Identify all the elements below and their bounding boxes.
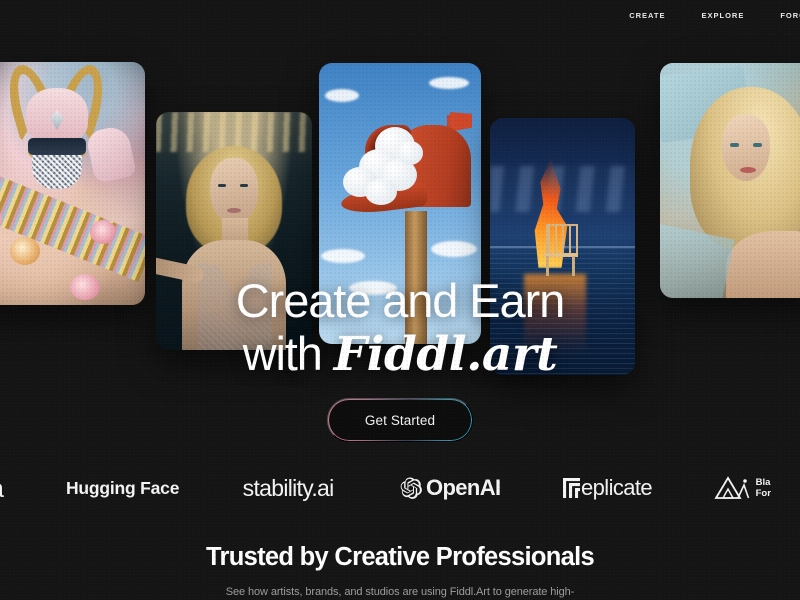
page-root: CREATE EXPLORE FORG — [0, 0, 800, 600]
cloud-band-shape — [490, 166, 635, 212]
nav-item-create[interactable]: CREATE — [611, 11, 683, 20]
logo-hugging-face[interactable]: Hugging Face — [38, 478, 207, 499]
page-title: Create and Earn with Fiddl.art — [0, 274, 800, 381]
chair-leg — [546, 256, 549, 276]
logo-luma-label: ma — [0, 473, 4, 504]
eye-shape — [218, 184, 226, 187]
woman-in-car-artwork — [660, 63, 800, 298]
logo-openai[interactable]: OpenAI — [369, 475, 531, 501]
chair-leg — [572, 256, 575, 276]
logo-black-forest-labs[interactable]: Bla For — [685, 475, 800, 501]
samurai-artwork — [0, 62, 145, 305]
trusted-subtext: See how artists, brands, and studios are… — [0, 586, 800, 598]
nav-items: CREATE EXPLORE FORG — [611, 11, 800, 20]
chair-shape — [544, 224, 582, 276]
lips-shape — [740, 167, 756, 173]
gallery-card-samurai[interactable] — [0, 62, 145, 305]
visor-shape — [28, 138, 86, 155]
replicate-bars-icon — [563, 478, 580, 498]
top-navigation: CREATE EXPLORE FORG — [0, 0, 800, 31]
eye-shape — [753, 143, 762, 147]
nav-item-forge[interactable]: FORG — [762, 11, 800, 20]
black-forest-labs-triangle-icon — [714, 475, 750, 501]
lattice-mask-shape — [32, 155, 82, 189]
trusted-section: Trusted by Creative Professionals See ho… — [0, 543, 800, 598]
logo-stability-ai-label: stability.ai — [243, 475, 334, 502]
chair-back — [546, 224, 578, 256]
eye-shape — [240, 184, 248, 187]
logo-luma[interactable]: ma — [0, 473, 38, 504]
cta-container: Get Started — [0, 398, 800, 442]
eye-shape — [730, 143, 739, 147]
headline-line-2: with Fiddl.art — [0, 327, 800, 381]
logo-replicate-label: eplicate — [581, 475, 652, 501]
get-started-button[interactable]: Get Started — [327, 398, 473, 442]
logo-openai-label: OpenAI — [426, 475, 501, 501]
bfl-line-1: Bla — [756, 477, 771, 488]
headline-with: with — [243, 327, 334, 380]
sky-cloud — [431, 241, 477, 257]
bfl-line-2: For — [756, 488, 771, 499]
gloved-hand-shape — [85, 124, 137, 184]
trusted-heading: Trusted by Creative Professionals — [0, 543, 800, 572]
nav-item-explore[interactable]: EXPLORE — [683, 11, 762, 20]
gallery-card-woman-in-car[interactable] — [660, 63, 800, 298]
sky-cloud — [321, 249, 365, 263]
partner-logo-strip: ma Hugging Face stability.ai OpenAI epli… — [0, 462, 800, 514]
hero-section: Create and Earn with Fiddl.art — [0, 274, 800, 381]
flower-ornament — [10, 237, 40, 265]
logo-hugging-face-label: Hugging Face — [66, 478, 179, 499]
cloud-puff — [397, 141, 423, 165]
sky-cloud — [429, 77, 469, 89]
openai-spiral-icon — [399, 476, 423, 500]
brand-name: Fiddl.art — [334, 327, 558, 382]
logo-replicate[interactable]: eplicate — [531, 475, 685, 501]
face-shape — [210, 158, 258, 224]
cloud-puff — [365, 179, 397, 205]
sky-cloud — [325, 89, 359, 102]
flower-ornament — [90, 220, 116, 244]
headline-line-1: Create and Earn — [236, 274, 564, 327]
lips-shape — [227, 208, 241, 213]
logo-black-forest-labs-label: Bla For — [756, 477, 771, 499]
logo-stability-ai[interactable]: stability.ai — [207, 475, 369, 502]
